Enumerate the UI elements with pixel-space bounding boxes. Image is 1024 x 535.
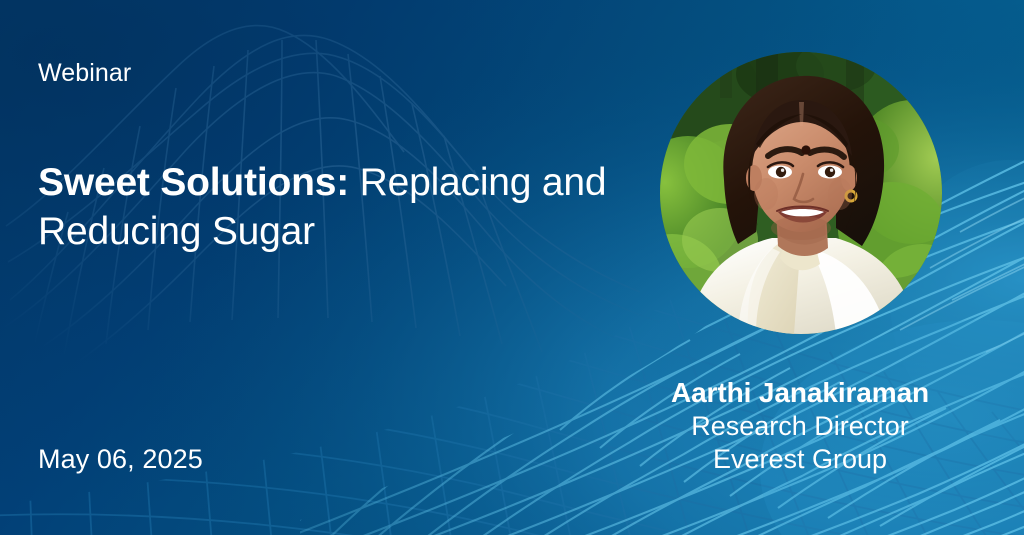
banner-content: Webinar Sweet Solutions: Replacing and R… — [0, 0, 1024, 535]
speaker-role: Research Director — [610, 410, 990, 443]
webinar-banner: Webinar Sweet Solutions: Replacing and R… — [0, 0, 1024, 535]
eyebrow-label: Webinar — [38, 60, 131, 88]
title-lead: Sweet Solutions: — [38, 161, 349, 204]
speaker-organization: Everest Group — [610, 443, 990, 476]
page-title: Sweet Solutions: Replacing and Reducing … — [38, 158, 638, 256]
event-date: May 06, 2025 — [38, 444, 203, 475]
speaker-name: Aarthi Janakiraman — [610, 376, 990, 410]
speaker-info: Aarthi Janakiraman Research Director Eve… — [610, 376, 990, 476]
